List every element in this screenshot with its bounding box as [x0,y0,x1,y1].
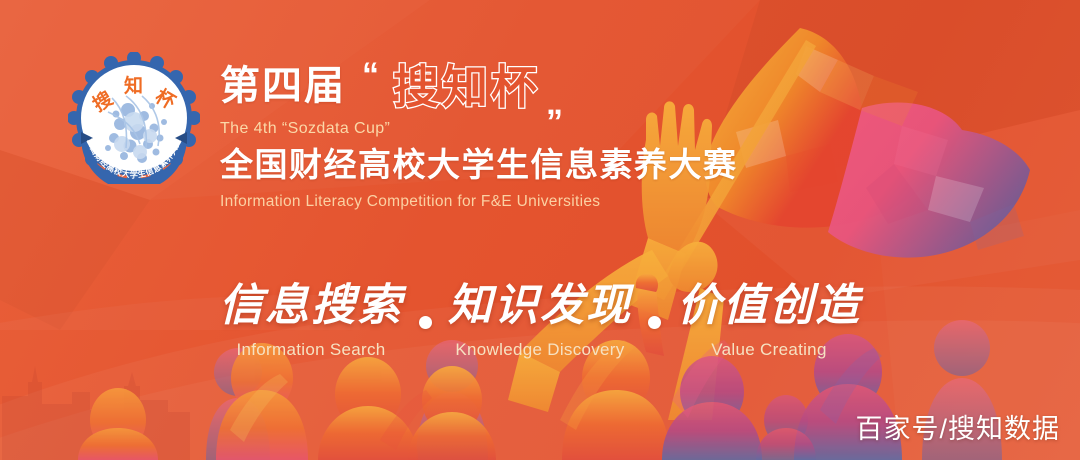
slogan-cn: 价值创造 [661,278,877,334]
headline-line-one: 第四届 “ 搜知杯 „ [220,60,920,116]
slogan-en: Knowledge Discovery [432,340,648,360]
competition-title-cn: 全国财经高校大学生信息素养大赛 [220,145,920,185]
slogan-separator-dot [648,316,661,329]
slogan-item-information-search: 信息搜索 Information Search [203,278,419,360]
english-subtitle-bottom: Information Literacy Competition for F&E… [220,193,920,211]
headline-block: 第四届 “ 搜知杯 „ The 4th “Sozdata Cup” 全国财经高校… [220,60,920,211]
slogan-cn: 知识发现 [432,278,648,334]
svg-text:知: 知 [124,74,143,97]
edition-kicker: 第四届 [220,60,346,112]
cup-name: 搜知杯 [393,60,540,114]
slogan-cn: 信息搜索 [203,278,419,334]
sozdata-cup-emblem: 搜 知 杯 全国财经高校大学生信息素养大赛 [68,52,200,184]
slogan-row: 信息搜索 Information Search 知识发现 Knowledge D… [0,278,1080,360]
slogan-item-knowledge-discovery: 知识发现 Knowledge Discovery [432,278,648,360]
slogan-en: Value Creating [661,340,877,360]
slogan-separator-dot [419,316,432,329]
source-watermark: 百家号/搜知数据 [855,407,1060,446]
competition-banner: 搜 知 杯 全国财经高校大学生信息素养大赛 第四届 “ 搜知杯 „ The 4t… [0,0,1080,460]
slogan-item-value-creating: 价值创造 Value Creating [661,278,877,360]
english-subtitle-top: The 4th “Sozdata Cup” [220,120,920,138]
quote-close-mark: „ [546,86,563,120]
quote-open-mark: “ [362,58,379,92]
slogan-en: Information Search [203,340,419,360]
